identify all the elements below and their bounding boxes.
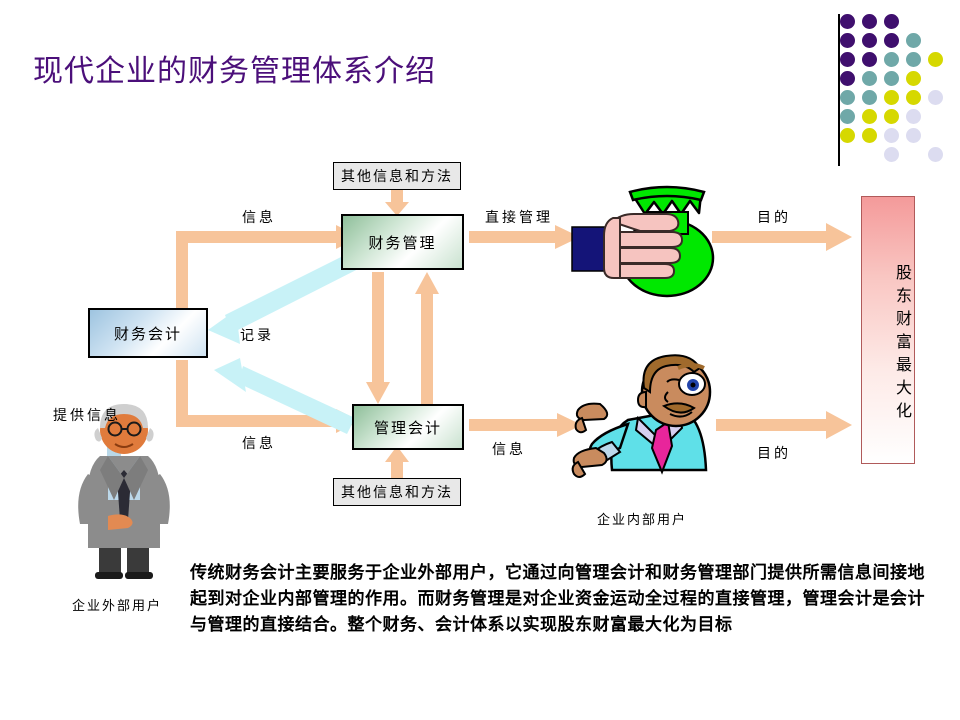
- summary-paragraph: 传统财务会计主要服务于企业外部用户，它通过向管理会计和财务管理部门提供所需信息间…: [190, 560, 925, 638]
- label-purpose-bottom: 目的: [757, 443, 791, 463]
- deco-dot-yellow: [928, 52, 943, 67]
- deco-dot-yellow: [884, 90, 899, 105]
- internal-user-clipart: [573, 355, 710, 477]
- deco-dot-yellow: [862, 109, 877, 124]
- label-purpose-top: 目的: [757, 207, 791, 227]
- box-financial-accounting[interactable]: 财务会计: [88, 308, 208, 358]
- connector-provide-info-shaft: [107, 434, 121, 472]
- deco-dot-purple: [862, 33, 877, 48]
- arrowhead-fm-to-ma: [366, 382, 390, 404]
- deco-dot-purple: [884, 14, 899, 29]
- connector-fm-to-ma-shaft: [372, 272, 384, 384]
- deco-dot-purple: [884, 33, 899, 48]
- deco-dot-purple: [840, 71, 855, 86]
- deco-dot-teal: [840, 90, 855, 105]
- connector-fa-up-vertical: [176, 231, 188, 319]
- slide-canvas: 现代企业的财务管理体系介绍: [0, 0, 960, 720]
- deco-dot-yellow: [906, 90, 921, 105]
- deco-dot-yellow: [862, 128, 877, 143]
- label-info-internal: 信息: [492, 439, 526, 459]
- arrowhead-ma-to-fm: [415, 272, 439, 294]
- label-provide-info: 提供信息: [53, 405, 121, 425]
- deco-dot-lavender: [906, 109, 921, 124]
- deco-dot-purple: [840, 33, 855, 48]
- connector-direct-management-shaft: [469, 231, 557, 243]
- label-record: 记录: [240, 325, 274, 345]
- deco-dot-teal: [906, 33, 921, 48]
- connector-fa-up-horizontal: [176, 231, 336, 243]
- money-bag-clipart: [572, 187, 713, 296]
- label-info-bottom: 信息: [242, 433, 276, 453]
- deco-dot-purple: [840, 14, 855, 29]
- connector-other-bottom-shaft: [391, 460, 403, 478]
- deco-dot-teal: [884, 52, 899, 67]
- page-title: 现代企业的财务管理体系介绍: [33, 46, 436, 90]
- connector-purpose-top-shaft: [712, 231, 828, 243]
- box-other-info-top[interactable]: 其他信息和方法: [333, 162, 461, 190]
- arrowhead-purpose-top: [826, 223, 852, 251]
- connector-purpose-bottom-shaft: [716, 419, 828, 431]
- arrowhead-direct-management: [555, 225, 580, 249]
- deco-dot-purple: [862, 52, 877, 67]
- deco-dot-lavender: [884, 128, 899, 143]
- box-other-info-bottom[interactable]: 其他信息和方法: [333, 478, 461, 506]
- arrowhead-provide-info: [100, 470, 128, 492]
- connector-other-top-shaft: [391, 190, 403, 204]
- dot-matrix-decoration: [840, 14, 952, 164]
- connector-ma-to-fm-shaft: [421, 292, 433, 404]
- arrowhead-record-upper: [208, 310, 240, 344]
- external-user-clipart: [78, 404, 170, 579]
- deco-dot-purple: [840, 52, 855, 67]
- connector-info-internal-shaft: [469, 419, 559, 431]
- deco-dot-lavender: [884, 147, 899, 162]
- box-management-accounting[interactable]: 管理会计: [352, 404, 464, 450]
- deco-dot-lavender: [928, 90, 943, 105]
- label-info-top: 信息: [242, 207, 276, 227]
- connector-fa-down-horizontal: [176, 415, 336, 427]
- deco-dot-yellow: [840, 128, 855, 143]
- caption-external-user: 企业外部用户: [72, 595, 162, 614]
- box-goal-shareholder-wealth[interactable]: 股东财富最大化: [861, 196, 915, 464]
- deco-dot-teal: [884, 71, 899, 86]
- deco-dot-lavender: [906, 128, 921, 143]
- deco-dot-teal: [862, 90, 877, 105]
- caption-internal-user: 企业内部用户: [597, 509, 687, 528]
- arrowhead-info-internal: [557, 413, 582, 437]
- label-direct-management: 直接管理: [485, 207, 553, 227]
- deco-dot-yellow: [884, 109, 899, 124]
- deco-dot-teal: [840, 109, 855, 124]
- deco-dot-teal: [862, 71, 877, 86]
- box-financial-management[interactable]: 财务管理: [341, 214, 464, 270]
- arrowhead-record-lower: [214, 358, 246, 392]
- deco-dot-yellow: [906, 71, 921, 86]
- deco-dot-purple: [862, 14, 877, 29]
- deco-dot-lavender: [928, 147, 943, 162]
- deco-dot-teal: [906, 52, 921, 67]
- arrowhead-purpose-bottom: [826, 411, 852, 439]
